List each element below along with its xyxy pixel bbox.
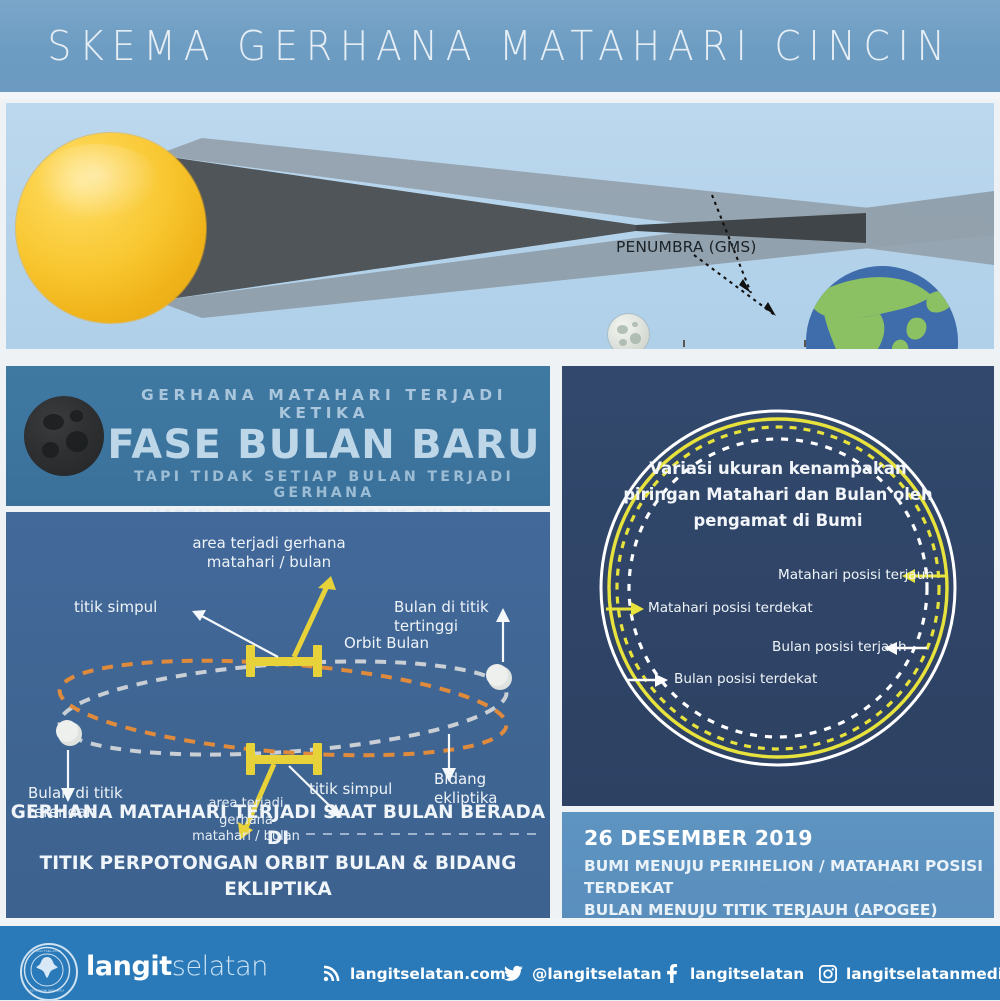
social-instagram-text: langitselatanmedia xyxy=(846,965,1000,983)
node-marker-bottom xyxy=(246,743,322,775)
label-eclipse-area-top: area terjadi gerhana matahari / bulan xyxy=(174,534,364,572)
new-moon-phase-panel: GERHANA MATAHARI TERJADI KETIKA FASE BUL… xyxy=(6,366,550,506)
svg-text:ASTRONOMI INDONESIA: ASTRONOMI INDONESIA xyxy=(30,989,65,993)
langitselatan-logo: LANGITSELATAN ASTRONOMI INDONESIA xyxy=(20,943,78,1001)
footer-bar: LANGITSELATAN ASTRONOMI INDONESIA langit… xyxy=(0,926,1000,1000)
umbra-antumbra-leaders xyxy=(684,340,805,349)
node-marker-top xyxy=(246,645,322,677)
infographic-poster: SKEMA GERHANA MATAHARI CINCIN xyxy=(0,0,1000,1000)
leader-titik-simpul-top xyxy=(192,610,278,657)
brand-wordmark: langitselatan xyxy=(86,951,268,982)
social-instagram[interactable]: langitselatanmedia xyxy=(818,964,1000,983)
label-bulan-terjauh: Bulan posisi terjauh xyxy=(772,639,907,655)
event-date-panel: 26 DESEMBER 2019 BUMI MENUJU PERIHELION … xyxy=(562,812,994,918)
social-twitter[interactable]: @langitselatan xyxy=(504,964,662,983)
rings-title: Variasi ukuran kenampakan piringan Matah… xyxy=(608,456,948,534)
label-bulan-tertinggi: Bulan di titik tertinggi xyxy=(394,598,550,636)
twitter-icon xyxy=(504,964,523,983)
page-title: SKEMA GERHANA MATAHARI CINCIN xyxy=(47,22,952,70)
rss-icon xyxy=(322,964,341,983)
penumbra-arrowhead-1 xyxy=(764,302,776,316)
social-website-text: langitselatan.com xyxy=(350,965,506,983)
header-bar: SKEMA GERHANA MATAHARI CINCIN xyxy=(0,0,1000,92)
earth-body xyxy=(806,266,958,349)
event-detail-line-1: BUMI MENUJU PERIHELION / MATAHARI POSISI… xyxy=(584,856,994,900)
label-penumbra: PENUMBRA (GMS) xyxy=(616,238,756,256)
fase-line-1: GERHANA MATAHARI TERJADI KETIKA xyxy=(104,386,544,422)
label-matahari-terjauh: Matahari posisi terjauh xyxy=(778,567,934,583)
social-facebook[interactable]: langitselatan xyxy=(662,964,804,983)
fase-line-3: TAPI TIDAK SETIAP BULAN TERJADI GERHANA xyxy=(104,469,544,501)
apparent-size-rings xyxy=(562,366,994,806)
label-orbit-bulan: Orbit Bulan xyxy=(344,634,429,653)
apparent-size-panel: Variasi ukuran kenampakan piringan Matah… xyxy=(562,366,994,806)
label-titik-simpul-top: titik simpul xyxy=(74,598,157,617)
logo-seal-icon: LANGITSELATAN ASTRONOMI INDONESIA xyxy=(22,945,72,995)
label-eclipse-area-bottom: area terjadi gerhana matahari / bulan xyxy=(184,796,308,846)
label-bulan-terendah: Bulan di titik terendah xyxy=(28,784,123,822)
moon-orbit-panel: area terjadi gerhana matahari / bulan ti… xyxy=(6,512,550,918)
label-bidang-ekliptika: Bidang ekliptika xyxy=(434,770,497,808)
svg-text:LANGITSELATAN: LANGITSELATAN xyxy=(33,949,62,953)
moon-body xyxy=(608,314,649,349)
brand-light: selatan xyxy=(172,951,268,982)
brand-bold: langit xyxy=(86,951,172,982)
fase-line-2: FASE BULAN BARU xyxy=(104,424,544,466)
label-bulan-terdekat: Bulan posisi terdekat xyxy=(674,671,817,687)
event-date: 26 DESEMBER 2019 xyxy=(584,826,813,850)
facebook-icon xyxy=(662,964,681,983)
sun-body xyxy=(16,133,206,323)
new-moon-icon xyxy=(24,396,104,476)
header-divider xyxy=(0,92,1000,99)
social-twitter-text: @langitselatan xyxy=(532,965,662,983)
earth-continents xyxy=(806,266,958,349)
social-facebook-text: langitselatan xyxy=(690,965,804,983)
instagram-icon xyxy=(818,964,837,983)
label-titik-simpul-bottom: titik simpul xyxy=(309,780,392,799)
social-website[interactable]: langitselatan.com xyxy=(322,964,506,983)
footer-divider xyxy=(0,918,1000,926)
eclipse-geometry-panel: PENUMBRA (GMS) UMBRA (GMT) ANTUMBRA (GMC… xyxy=(6,103,994,349)
eclipse-area-arrow-top xyxy=(294,576,336,657)
label-matahari-terdekat: Matahari posisi terdekat xyxy=(648,600,813,616)
event-date-details: BUMI MENUJU PERIHELION / MATAHARI POSISI… xyxy=(584,856,994,922)
